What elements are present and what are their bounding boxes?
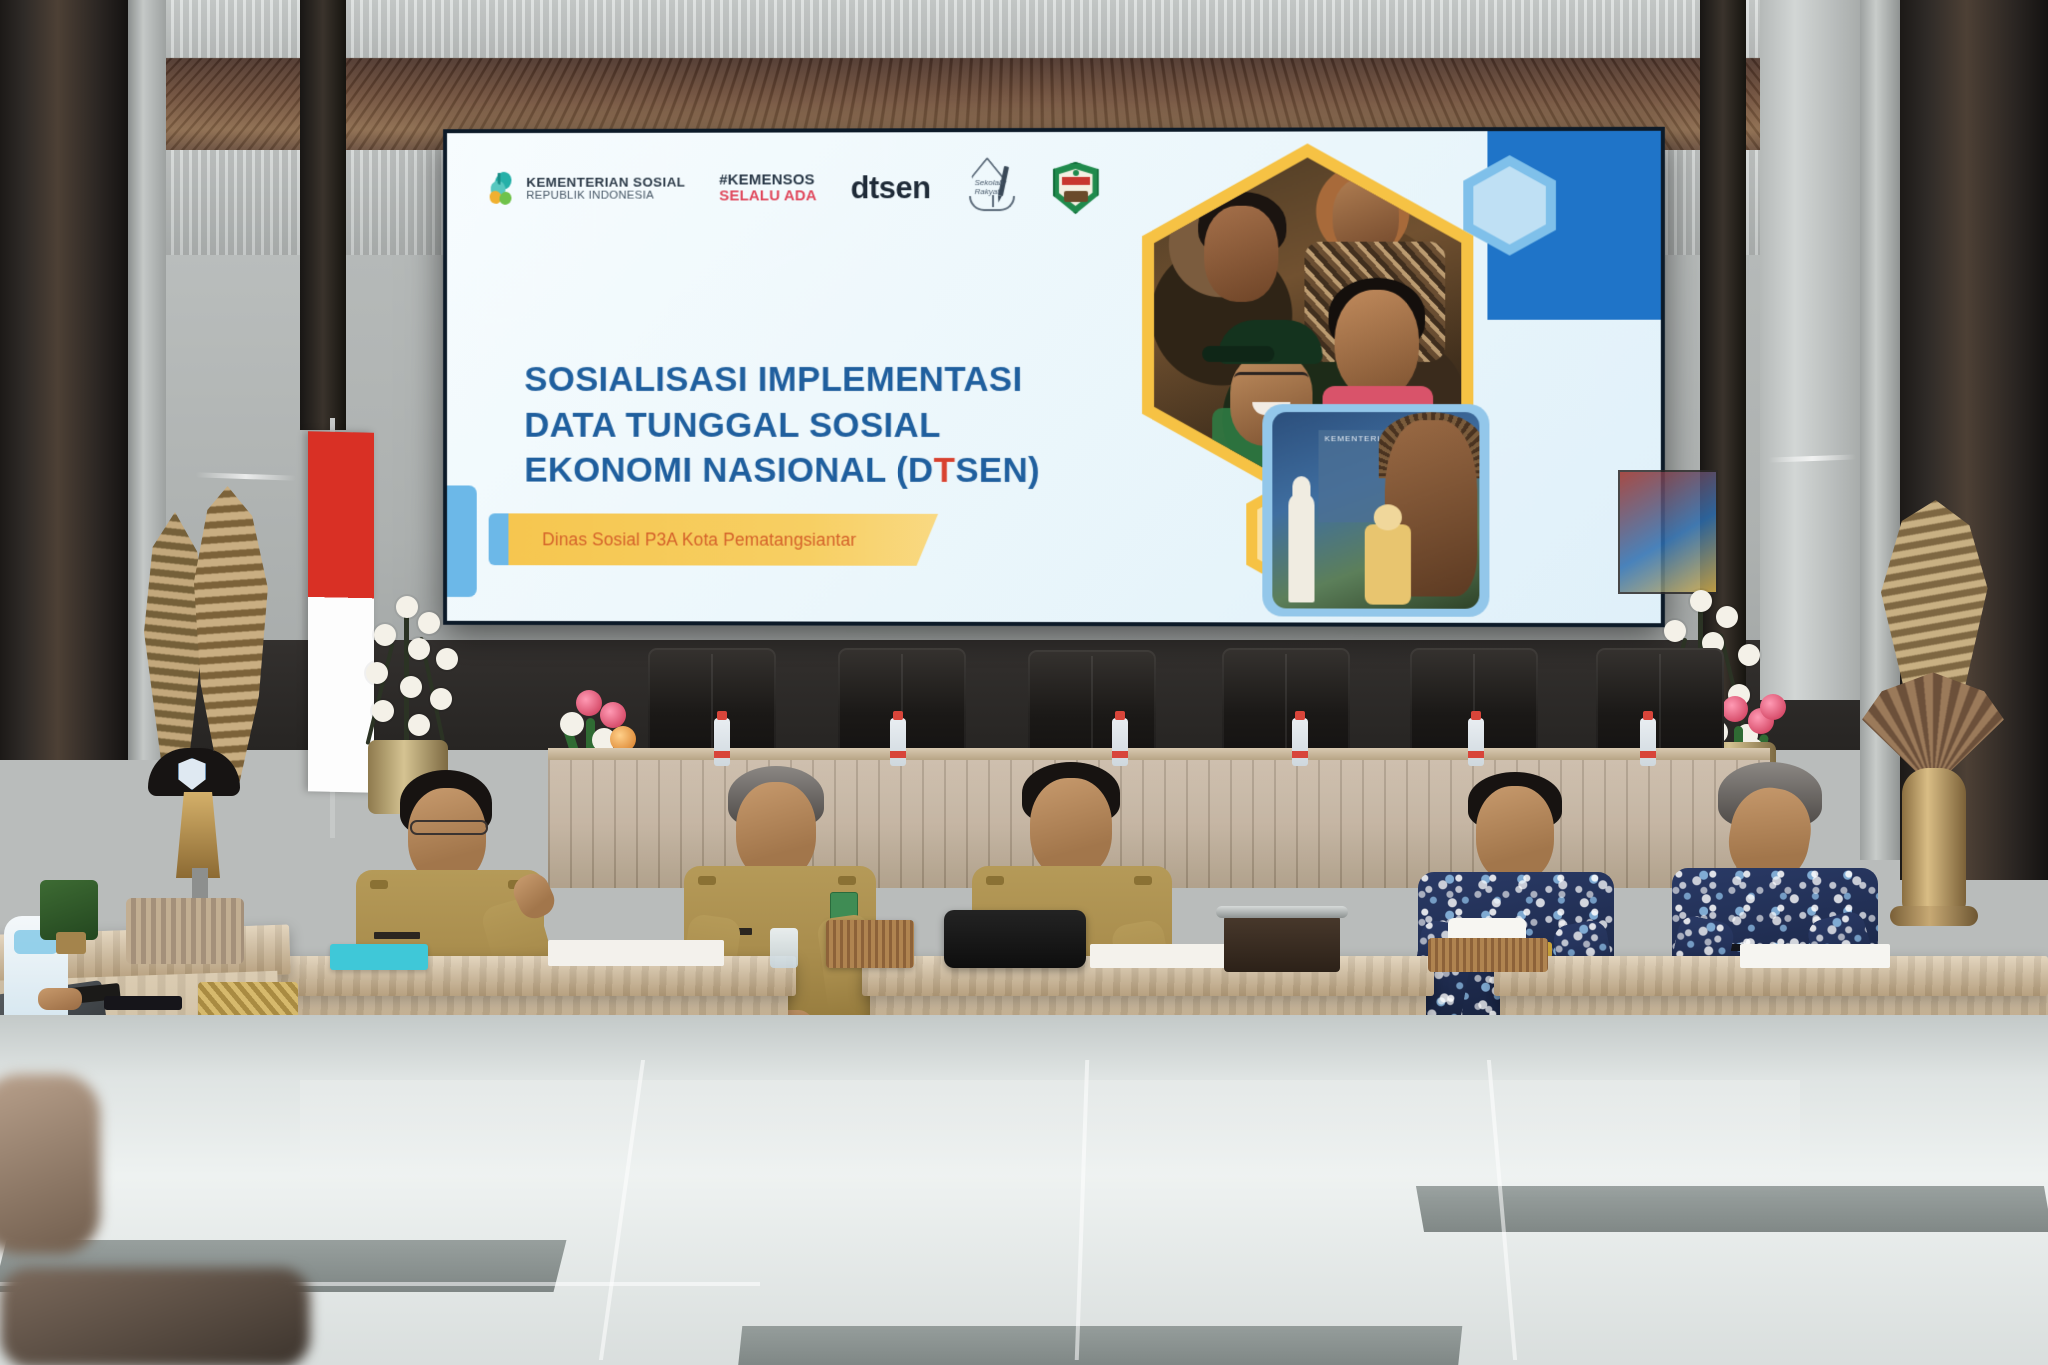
foreground-blur-left (0, 1268, 310, 1365)
brown-box[interactable] (1428, 938, 1548, 972)
slide-title-line-3: EKONOMI NASIONAL (DTSEN) (524, 448, 1040, 494)
column-far-left (0, 0, 128, 760)
water-bottle-3[interactable] (1112, 718, 1128, 766)
collage-photo-culture: KEMENTERIAN (1272, 412, 1479, 609)
p3-epaulet-left (986, 876, 1004, 885)
kemensos-mark-icon (489, 172, 519, 206)
kemensos-line2: REPUBLIK INDONESIA (526, 190, 685, 203)
foreground-person-blur (0, 1074, 100, 1254)
empty-chair-frame (1216, 906, 1348, 918)
papers-stack-1[interactable] (548, 940, 724, 966)
batak-hat-emblem-icon (178, 758, 206, 790)
slide-logo-row: KEMENTERIAN SOSIAL REPUBLIK INDONESIA #K… (489, 162, 1099, 215)
keyboard[interactable] (104, 996, 182, 1010)
selalu-line1: #KEMENSOS (719, 173, 817, 189)
p2-epaulet-left (698, 876, 716, 885)
slide-left-blue-tab (447, 485, 477, 597)
batak-woven-stand (176, 792, 220, 878)
photo-man-cap (1218, 320, 1322, 364)
title-line3-highlight: T (934, 451, 956, 490)
photo-ogoh-ogoh-puppet (1365, 524, 1411, 604)
photo-monument-tower (1288, 492, 1314, 602)
water-bottle-1[interactable] (714, 718, 730, 766)
slide-title-line-2: DATA TUNGGAL SOSIAL (524, 402, 1040, 448)
slide-subtitle-text: Dinas Sosial P3A Kota Pematangsiantar (508, 529, 856, 550)
sekolah-book-icon (969, 196, 1015, 211)
kota-pematangsiantar-emblem (1053, 162, 1099, 214)
wooden-vase (1902, 768, 1966, 916)
emblem-base-icon (1064, 191, 1088, 202)
head-table-top (548, 748, 1770, 760)
notebook-open[interactable] (1740, 944, 1890, 968)
p2-epaulet-right (838, 876, 856, 885)
empty-chair-front[interactable] (1224, 912, 1340, 972)
slide-title: SOSIALISASI IMPLEMENTASI DATA TUNGGAL SO… (524, 357, 1040, 493)
plant-pot (56, 932, 86, 954)
p3-epaulet-right (1134, 876, 1152, 885)
emblem-red-band (1062, 177, 1090, 185)
subtitle-yellow-bar: Dinas Sosial P3A Kota Pematangsiantar (508, 513, 938, 565)
selalu-line2: SELALU ADA (719, 188, 817, 204)
p4-head (1476, 786, 1554, 882)
kementerian-sosial-logo: KEMENTERIAN SOSIAL REPUBLIK INDONESIA (489, 172, 686, 206)
photo-child-face (1335, 290, 1419, 398)
black-shoulder-bag[interactable] (944, 910, 1086, 968)
p1-epaulet-left (370, 880, 388, 889)
papers-stack-2[interactable] (1090, 944, 1246, 968)
photo-man-glasses-icon (1234, 372, 1308, 388)
wall-artwork-right (1618, 470, 1718, 594)
side-chair-back[interactable] (126, 898, 244, 964)
potted-plant (40, 880, 98, 940)
dtsen-logo: dtsen (851, 170, 931, 206)
floor-dark-band-3 (738, 1326, 1463, 1365)
title-line3-post: SEN) (955, 451, 1040, 490)
water-bottle-2[interactable] (890, 718, 906, 766)
teal-folder[interactable] (330, 944, 428, 970)
meeting-room-photo: KEMENTERIAN SOSIAL REPUBLIK INDONESIA #K… (0, 0, 2048, 1365)
kemensos-selalu-ada-logo: #KEMENSOS SELALU ADA (719, 173, 817, 204)
title-line3-pre: EKONOMI NASIONAL (D (524, 451, 933, 490)
drinking-glass[interactable] (770, 928, 798, 968)
p3-head (1030, 778, 1112, 878)
brown-book-1[interactable] (826, 920, 914, 968)
water-bottle-6[interactable] (1640, 718, 1656, 766)
kemensos-line1: KEMENTERIAN SOSIAL (526, 175, 685, 190)
floor-reflection (300, 1080, 1800, 1200)
slide-title-line-1: SOSIALISASI IMPLEMENTASI (524, 357, 1040, 402)
sekolah-rakyat-logo: Sekolah Rakyat (965, 164, 1019, 212)
projection-screen: KEMENTERIAN SOSIAL REPUBLIK INDONESIA #K… (443, 127, 1665, 627)
attendee-hand (38, 988, 82, 1010)
water-bottle-5[interactable] (1468, 718, 1484, 766)
p1-eyeglasses-icon (410, 820, 488, 835)
photo-woman-face (1204, 206, 1278, 302)
emblem-star-icon (1073, 170, 1079, 176)
water-bottle-4[interactable] (1292, 718, 1308, 766)
slide-content: KEMENTERIAN SOSIAL REPUBLIK INDONESIA #K… (447, 131, 1661, 623)
column-right-light (1760, 0, 1860, 700)
column-left-dark (300, 0, 346, 430)
sekolah-rakyat-wordmark: Sekolah Rakyat (975, 178, 1019, 196)
